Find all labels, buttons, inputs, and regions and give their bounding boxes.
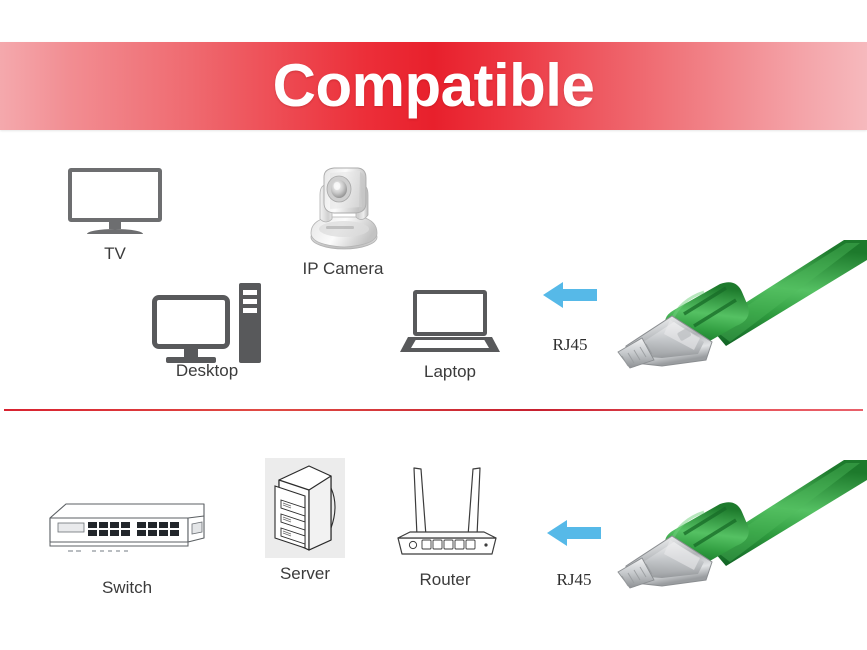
compatibility-diagram: Compatible TV [0, 0, 867, 650]
device-laptop: Laptop [400, 290, 500, 352]
ip-camera-icon [304, 163, 382, 249]
arrow-left-icon [545, 516, 603, 550]
rj45-cable-icon-bottom [608, 458, 867, 590]
arrow-left-icon [541, 278, 599, 312]
desktop-computer-icon [152, 283, 261, 363]
connection-arrow-top [541, 278, 599, 317]
device-tv: TV [68, 168, 162, 234]
network-switch-icon [44, 490, 210, 562]
header-banner: Compatible [0, 42, 867, 130]
laptop-icon [400, 290, 500, 352]
connection-arrow-bottom [545, 516, 603, 555]
rj45-label-bottom: RJ45 [534, 570, 614, 590]
server-rack-icon [265, 458, 345, 558]
device-ip-camera: IP Camera [304, 163, 382, 249]
device-label-desktop: Desktop [107, 361, 307, 381]
tv-icon [68, 168, 162, 234]
section-divider [4, 409, 863, 411]
device-router: Router [392, 460, 502, 560]
device-label-switch: Switch [27, 578, 227, 598]
wifi-router-icon [392, 460, 502, 560]
rj45-label-top: RJ45 [530, 335, 610, 355]
device-label-tv: TV [15, 244, 215, 264]
device-server: Server [265, 458, 345, 558]
device-label-laptop: Laptop [350, 362, 550, 382]
rj45-cable-icon-top [608, 238, 867, 370]
device-switch: Switch [44, 490, 210, 562]
page-title: Compatible [273, 56, 595, 116]
device-label-ip-camera: IP Camera [243, 259, 443, 279]
device-desktop: Desktop [152, 283, 261, 363]
device-label-router: Router [345, 570, 545, 590]
